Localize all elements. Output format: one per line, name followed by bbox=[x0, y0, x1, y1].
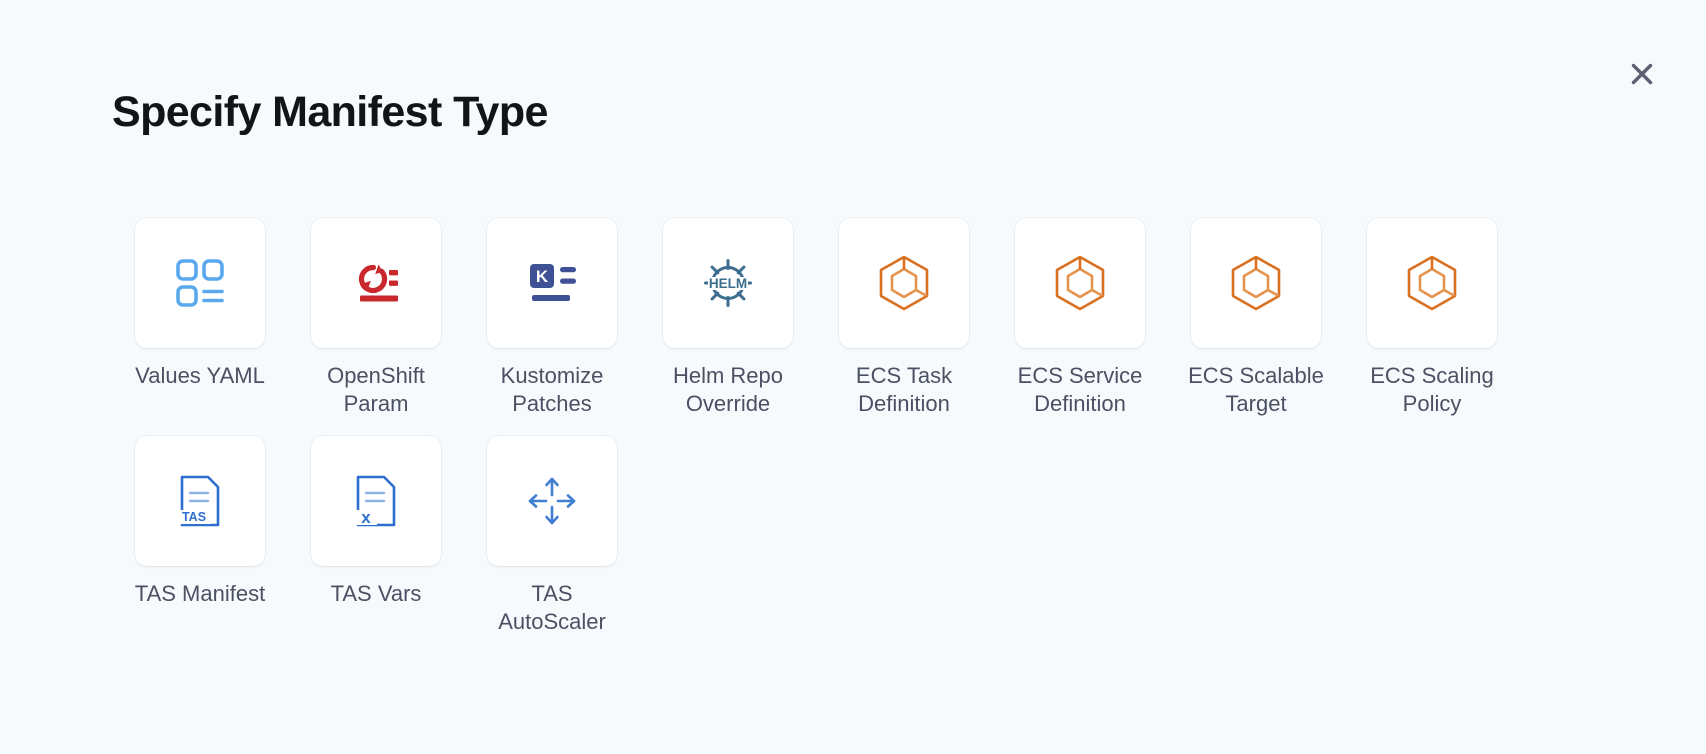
svg-text:x: x bbox=[361, 508, 371, 527]
svg-text:TAS: TAS bbox=[182, 510, 206, 524]
values-yaml-icon bbox=[168, 251, 232, 315]
manifest-type-helm-repo-override[interactable]: HELM Helm Repo Override bbox=[640, 218, 816, 418]
manifest-type-tile[interactable] bbox=[1191, 218, 1321, 348]
svg-text:HELM: HELM bbox=[709, 276, 747, 291]
manifest-type-ecs-task-definition[interactable]: ECS Task Definition bbox=[816, 218, 992, 418]
manifest-type-label: TAS AutoScaler bbox=[476, 580, 628, 636]
close-dialog-button[interactable] bbox=[1620, 52, 1664, 96]
tas-autoscaler-arrows-icon bbox=[520, 469, 584, 533]
manifest-type-label: Kustomize Patches bbox=[476, 362, 628, 418]
manifest-type-openshift-param[interactable]: OpenShift Param bbox=[288, 218, 464, 418]
manifest-type-label: OpenShift Param bbox=[300, 362, 452, 418]
manifest-type-label: Values YAML bbox=[124, 362, 276, 390]
manifest-type-label: ECS Service Definition bbox=[1004, 362, 1156, 418]
ecs-hexagon-icon bbox=[1400, 251, 1464, 315]
manifest-type-values-yaml[interactable]: Values YAML bbox=[112, 218, 288, 418]
manifest-type-label: TAS Vars bbox=[300, 580, 452, 608]
kustomize-icon: K bbox=[520, 251, 584, 315]
manifest-type-ecs-scaling-policy[interactable]: ECS Scaling Policy bbox=[1344, 218, 1520, 418]
manifest-type-tile[interactable]: TAS bbox=[135, 436, 265, 566]
manifest-type-label: TAS Manifest bbox=[124, 580, 276, 608]
manifest-type-tile[interactable] bbox=[135, 218, 265, 348]
manifest-type-tas-manifest[interactable]: TAS TAS Manifest bbox=[112, 436, 288, 636]
manifest-type-label: ECS Task Definition bbox=[828, 362, 980, 418]
ecs-hexagon-icon bbox=[872, 251, 936, 315]
manifest-type-label: ECS Scalable Target bbox=[1180, 362, 1332, 418]
manifest-type-kustomize-patches[interactable]: K Kustomize Patches bbox=[464, 218, 640, 418]
manifest-type-tas-autoscaler[interactable]: TAS AutoScaler bbox=[464, 436, 640, 636]
manifest-type-label: Helm Repo Override bbox=[652, 362, 804, 418]
manifest-type-tas-vars[interactable]: x TAS Vars bbox=[288, 436, 464, 636]
helm-icon: HELM bbox=[696, 251, 760, 315]
manifest-type-tile[interactable]: x bbox=[311, 436, 441, 566]
manifest-type-tile[interactable] bbox=[311, 218, 441, 348]
ecs-hexagon-icon bbox=[1048, 251, 1112, 315]
manifest-type-ecs-scalable-target[interactable]: ECS Scalable Target bbox=[1168, 218, 1344, 418]
tas-manifest-document-icon: TAS bbox=[168, 469, 232, 533]
manifest-type-label: ECS Scaling Policy bbox=[1356, 362, 1508, 418]
ecs-hexagon-icon bbox=[1224, 251, 1288, 315]
manifest-type-tile[interactable] bbox=[839, 218, 969, 348]
manifest-type-grid: Values YAML OpenShift Param bbox=[112, 218, 1612, 655]
manifest-type-tile[interactable]: K bbox=[487, 218, 617, 348]
manifest-type-tile[interactable]: HELM bbox=[663, 218, 793, 348]
specify-manifest-type-dialog: Specify Manifest Type Values YAML bbox=[0, 0, 1706, 754]
manifest-type-ecs-service-definition[interactable]: ECS Service Definition bbox=[992, 218, 1168, 418]
manifest-type-tile[interactable] bbox=[1015, 218, 1145, 348]
openshift-icon bbox=[344, 251, 408, 315]
tas-vars-document-icon: x bbox=[344, 469, 408, 533]
manifest-type-tile[interactable] bbox=[1367, 218, 1497, 348]
svg-text:K: K bbox=[536, 267, 549, 286]
page-title: Specify Manifest Type bbox=[112, 88, 548, 137]
close-icon bbox=[1629, 61, 1655, 87]
manifest-type-tile[interactable] bbox=[487, 436, 617, 566]
